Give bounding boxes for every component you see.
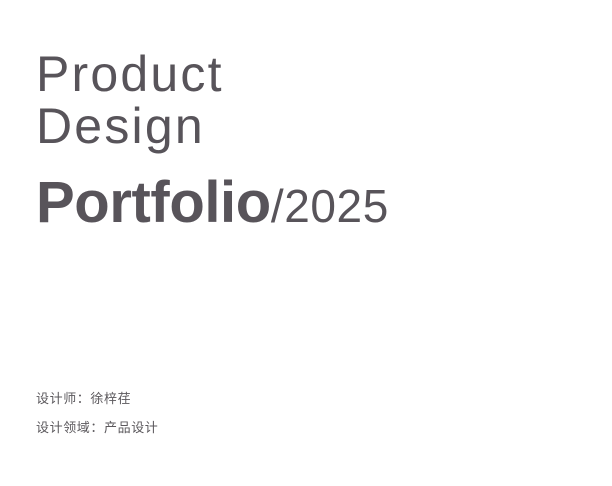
portfolio-title-word: Portfolio	[36, 170, 271, 235]
headline-line-product: Product	[36, 48, 576, 100]
meta-designer: 设计师：徐梓荏	[36, 384, 436, 413]
headline-line-design: Design	[36, 100, 576, 152]
portfolio-title: Portfolio/2025	[36, 172, 576, 249]
portfolio-title-year: /2025	[271, 180, 389, 232]
cover-meta-block: 设计师：徐梓荏 设计领域：产品设计	[36, 384, 436, 442]
cover-headline: Product Design Portfolio/2025	[36, 48, 576, 249]
cover-slide: Product Design Portfolio/2025 设计师：徐梓荏 设计…	[0, 0, 612, 486]
meta-design-field: 设计领域：产品设计	[36, 413, 436, 442]
